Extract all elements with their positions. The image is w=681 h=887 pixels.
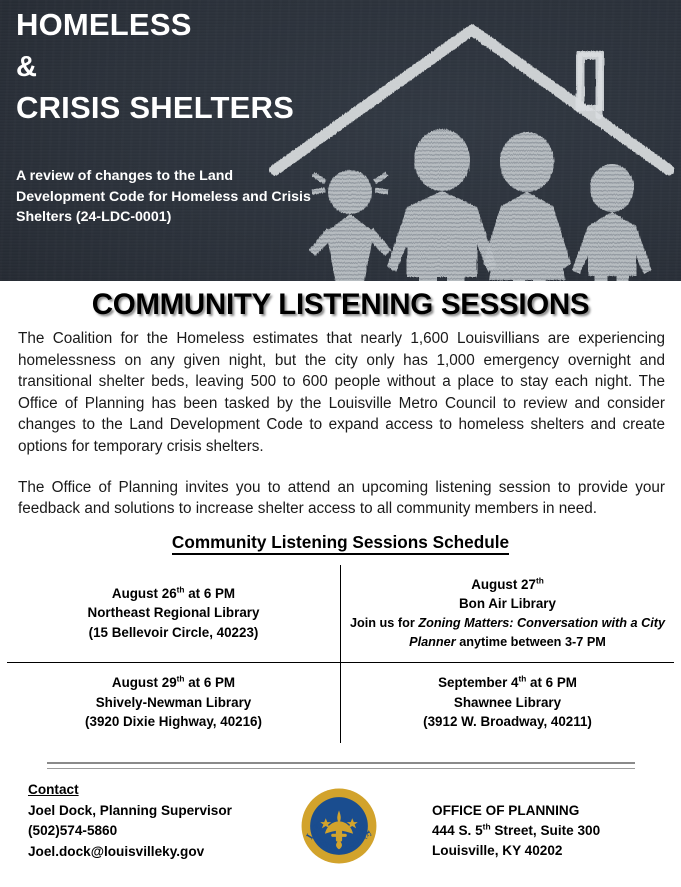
schedule-heading: Community Listening Sessions Schedule — [0, 532, 681, 554]
paragraph-background: The Coalition for the Homeless estimates… — [18, 328, 665, 458]
office-name: OFFICE OF PLANNING — [432, 801, 600, 821]
chalk-girl — [309, 170, 391, 281]
session-cell-4: September 4th at 6 PM Shawnee Library (3… — [341, 663, 675, 743]
header-subtitle: A review of changes to the Land Developm… — [16, 166, 316, 228]
session-4-date: September 4th at 6 PM — [349, 673, 666, 693]
session-4-venue: Shawnee Library — [349, 693, 666, 713]
session-2-note: Join us for Zoning Matters: Conversation… — [349, 614, 666, 651]
office-city: Louisville, KY 40202 — [432, 841, 600, 861]
session-4-address: (3912 W. Broadway, 40211) — [349, 712, 666, 732]
contact-heading: Contact — [28, 780, 79, 800]
contact-phone[interactable]: (502)574-5860 — [28, 821, 232, 841]
body-copy: The Coalition for the Homeless estimates… — [0, 328, 681, 520]
louisville-jefferson-county-seal-icon: LOUISVILLE JEFFERSON COUNTY 1778 1778 — [300, 787, 378, 865]
chalk-family-illustration — [267, 10, 681, 281]
schedule-heading-text: Community Listening Sessions Schedule — [172, 532, 509, 555]
contact-block: Contact Joel Dock, Planning Supervisor (… — [28, 780, 232, 862]
session-3-venue: Shively-Newman Library — [15, 693, 332, 713]
table-row: August 29th at 6 PM Shively-Newman Libra… — [7, 663, 674, 743]
session-cell-1: August 26th at 6 PM Northeast Regional L… — [7, 565, 341, 663]
session-1-venue: Northeast Regional Library — [15, 603, 332, 623]
header-text-block: HOMELESS & CRISIS SHELTERS A review of c… — [16, 4, 316, 228]
session-3-address: (3920 Dixie Highway, 40216) — [15, 712, 332, 732]
chalk-roof — [275, 30, 669, 170]
chalk-man — [387, 129, 497, 281]
page-title: COMMUNITY LISTENING SESSIONS — [0, 281, 681, 328]
office-block: OFFICE OF PLANNING 444 S. 5th Street, Su… — [432, 801, 600, 862]
header-banner: HOMELESS & CRISIS SHELTERS A review of c… — [0, 0, 681, 281]
session-1-address: (15 Bellevoir Circle, 40223) — [15, 623, 332, 643]
schedule-table: August 26th at 6 PM Northeast Regional L… — [7, 565, 674, 743]
session-cell-3: August 29th at 6 PM Shively-Newman Libra… — [7, 663, 341, 743]
session-1-date: August 26th at 6 PM — [15, 584, 332, 604]
session-2-date: August 27th — [349, 575, 666, 595]
contact-name: Joel Dock, Planning Supervisor — [28, 801, 232, 821]
chalk-woman — [483, 132, 571, 281]
footer: Contact Joel Dock, Planning Supervisor (… — [0, 780, 681, 872]
contact-email[interactable]: Joel.dock@louisvilleky.gov — [28, 842, 232, 862]
header-ampersand: & — [16, 49, 316, 85]
office-street: 444 S. 5th Street, Suite 300 — [432, 821, 600, 841]
header-title-line1: HOMELESS — [16, 4, 316, 45]
paragraph-invitation: The Office of Planning invites you to at… — [18, 477, 665, 520]
session-3-date: August 29th at 6 PM — [15, 673, 332, 693]
session-2-venue: Bon Air Library — [349, 594, 666, 614]
header-title-line2: CRISIS SHELTERS — [16, 87, 316, 128]
footer-divider — [47, 762, 635, 769]
chalk-boy — [572, 164, 652, 281]
table-row: August 26th at 6 PM Northeast Regional L… — [7, 565, 674, 663]
session-cell-2: August 27th Bon Air Library Join us for … — [341, 565, 675, 663]
